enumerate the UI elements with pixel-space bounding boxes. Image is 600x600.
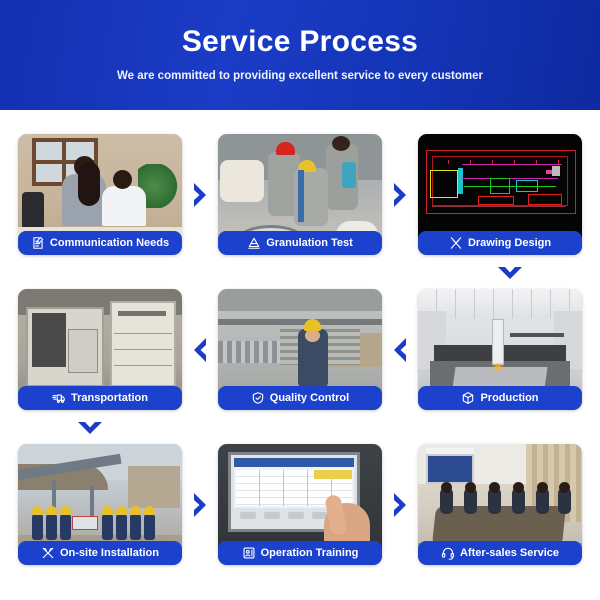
step-label-text: Production: [480, 393, 538, 404]
connector-left-arrow-1: [186, 289, 214, 410]
chevron-left-icon: [192, 337, 208, 363]
connector-right-arrow-4: [386, 444, 414, 565]
step-card-drawing-design[interactable]: Drawing Design: [418, 134, 582, 255]
step-card-quality-control[interactable]: Quality Control: [218, 289, 382, 410]
step-label-drawing-design: Drawing Design: [418, 231, 582, 255]
headset-support-icon: [441, 546, 455, 560]
connector-right-arrow-3: [186, 444, 214, 565]
step-card-communication-needs[interactable]: Communication Needs: [18, 134, 182, 255]
page-title: Service Process: [182, 27, 418, 57]
step-label-text: Quality Control: [270, 393, 349, 404]
step-label-text: On-site Installation: [60, 548, 159, 559]
chevron-right-icon: [192, 492, 208, 518]
step-label-text: Drawing Design: [468, 238, 551, 249]
steps-grid: Communication Needs: [0, 110, 600, 600]
chevron-right-icon: [392, 182, 408, 208]
document-edit-icon: [31, 236, 45, 250]
delivery-truck-icon: [52, 391, 66, 405]
step-card-transportation[interactable]: Transportation: [18, 289, 182, 410]
step-label-text: Communication Needs: [50, 238, 169, 249]
page-subtitle: We are committed to providing excellent …: [117, 71, 483, 83]
chevron-down-icon: [77, 420, 103, 436]
step-label-operation-training: Operation Training: [218, 541, 382, 565]
crossed-drafting-tools-icon: [449, 236, 463, 250]
step-label-onsite-installation: On-site Installation: [18, 541, 182, 565]
connector-right-arrow-2: [386, 134, 414, 255]
connector-down-arrow-2: [73, 413, 107, 443]
step-label-text: Granulation Test: [266, 238, 353, 249]
chevron-right-icon: [192, 182, 208, 208]
step-label-text: After-sales Service: [460, 548, 559, 559]
step-label-text: Transportation: [71, 393, 148, 404]
funnel-cone-icon: [247, 236, 261, 250]
wrench-screwdriver-icon: [41, 546, 55, 560]
step-label-granulation-test: Granulation Test: [218, 231, 382, 255]
connector-down-arrow-1: [493, 258, 527, 288]
steps-row-1: Communication Needs: [18, 134, 582, 255]
shield-check-icon: [251, 391, 265, 405]
step-label-communication-needs: Communication Needs: [18, 231, 182, 255]
steps-row-2: Transportation: [18, 289, 582, 410]
step-card-operation-training[interactable]: Operation Training: [218, 444, 382, 565]
step-card-after-sales-service[interactable]: After-sales Service: [418, 444, 582, 565]
step-card-production[interactable]: Production: [418, 289, 582, 410]
connector-right-arrow-1: [186, 134, 214, 255]
header-banner: Service Process We are committed to prov…: [0, 0, 600, 110]
cube-box-icon: [461, 391, 475, 405]
step-label-quality-control: Quality Control: [218, 386, 382, 410]
step-label-text: Operation Training: [261, 548, 359, 559]
step-label-transportation: Transportation: [18, 386, 182, 410]
steps-row-3: On-site Installation: [18, 444, 582, 565]
step-card-onsite-installation[interactable]: On-site Installation: [18, 444, 182, 565]
service-process-infographic: Service Process We are committed to prov…: [0, 0, 600, 600]
presentation-board-icon: [242, 546, 256, 560]
chevron-down-icon: [497, 265, 523, 281]
connector-left-arrow-2: [386, 289, 414, 410]
step-card-granulation-test[interactable]: Granulation Test: [218, 134, 382, 255]
step-label-production: Production: [418, 386, 582, 410]
chevron-right-icon: [392, 492, 408, 518]
chevron-left-icon: [392, 337, 408, 363]
step-label-after-sales-service: After-sales Service: [418, 541, 582, 565]
